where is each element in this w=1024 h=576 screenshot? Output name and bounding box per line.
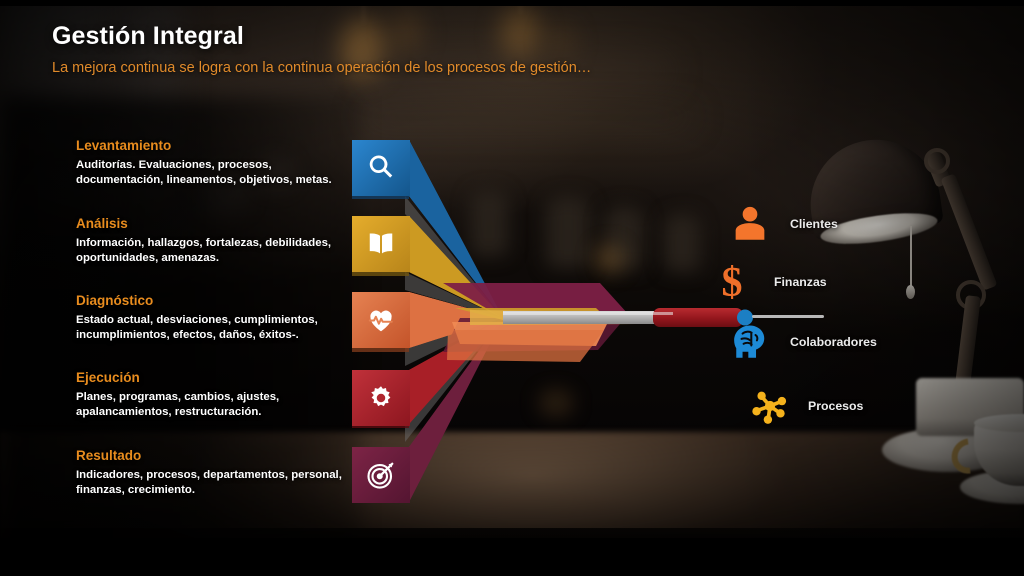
stage-text-levantamiento[interactable]: Levantamiento Auditorías. Evaluaciones, … (76, 138, 348, 188)
stage-title: Resultado (76, 448, 348, 463)
outcome-label: Clientes (790, 217, 838, 231)
letterbox-bottom (0, 538, 1024, 576)
stage-text-diagnostico[interactable]: Diagnóstico Estado actual, desviaciones,… (76, 293, 344, 343)
stage-text-resultado[interactable]: Resultado Indicadores, procesos, departa… (76, 448, 348, 498)
stage-text-analisis[interactable]: Análisis Información, hallazgos, fortale… (76, 216, 348, 266)
background-jar (664, 214, 700, 272)
target-dart-icon (366, 460, 396, 490)
outcome-colaboradores[interactable]: Colaboradores (728, 318, 877, 366)
stage-title: Levantamiento (76, 138, 348, 153)
svg-text:$: $ (722, 261, 743, 303)
stage-title: Ejecución (76, 370, 348, 385)
outcome-label: Procesos (808, 399, 863, 413)
stage-icon-tile-levantamiento[interactable] (352, 140, 410, 196)
background-bokeh (540, 392, 572, 414)
background-bokeh (596, 246, 622, 272)
outcome-procesos[interactable]: Procesos (746, 382, 863, 430)
stage-text-ejecucion[interactable]: Ejecución Planes, programas, cambios, aj… (76, 370, 348, 420)
person-icon (726, 200, 774, 248)
background-shelf (362, 108, 692, 126)
stage-icon-tile-analisis[interactable] (352, 216, 410, 272)
outcome-clientes[interactable]: Clientes (726, 200, 838, 248)
letterbox-top (0, 0, 1024, 6)
stage-icon-tile-ejecucion[interactable] (352, 370, 410, 426)
stage-body: Información, hallazgos, fortalezas, debi… (76, 236, 348, 266)
magnifier-icon (366, 153, 396, 183)
background-jar (546, 196, 590, 268)
stage-title: Diagnóstico (76, 293, 344, 308)
gear-icon (366, 383, 396, 413)
header: Gestión Integral La mejora continua se l… (52, 22, 591, 76)
stage-body: Planes, programas, cambios, ajustes, apa… (76, 390, 348, 420)
dollar-icon: $ (708, 258, 756, 306)
brain-head-icon (728, 318, 776, 366)
stage-body: Auditorías. Evaluaciones, procesos, docu… (76, 158, 348, 188)
background-jar (470, 190, 508, 256)
stage-body: Estado actual, desviaciones, cumplimient… (76, 313, 344, 343)
slide-canvas: Gestión Integral La mejora continua se l… (0, 0, 1024, 576)
outcome-finanzas[interactable]: $ Finanzas (708, 258, 827, 306)
heart-pulse-icon (366, 305, 396, 335)
page-subtitle: La mejora continua se logra con la conti… (52, 60, 591, 76)
outcome-label: Colaboradores (790, 335, 877, 349)
stage-icon-tile-diagnostico[interactable] (352, 292, 410, 348)
stage-icon-tile-resultado[interactable] (352, 447, 410, 503)
outcome-label: Finanzas (774, 275, 827, 289)
open-book-icon (366, 229, 396, 259)
network-icon (746, 382, 794, 430)
page-title: Gestión Integral (52, 22, 591, 51)
stage-body: Indicadores, procesos, departamentos, pe… (76, 468, 348, 498)
stage-title: Análisis (76, 216, 348, 231)
